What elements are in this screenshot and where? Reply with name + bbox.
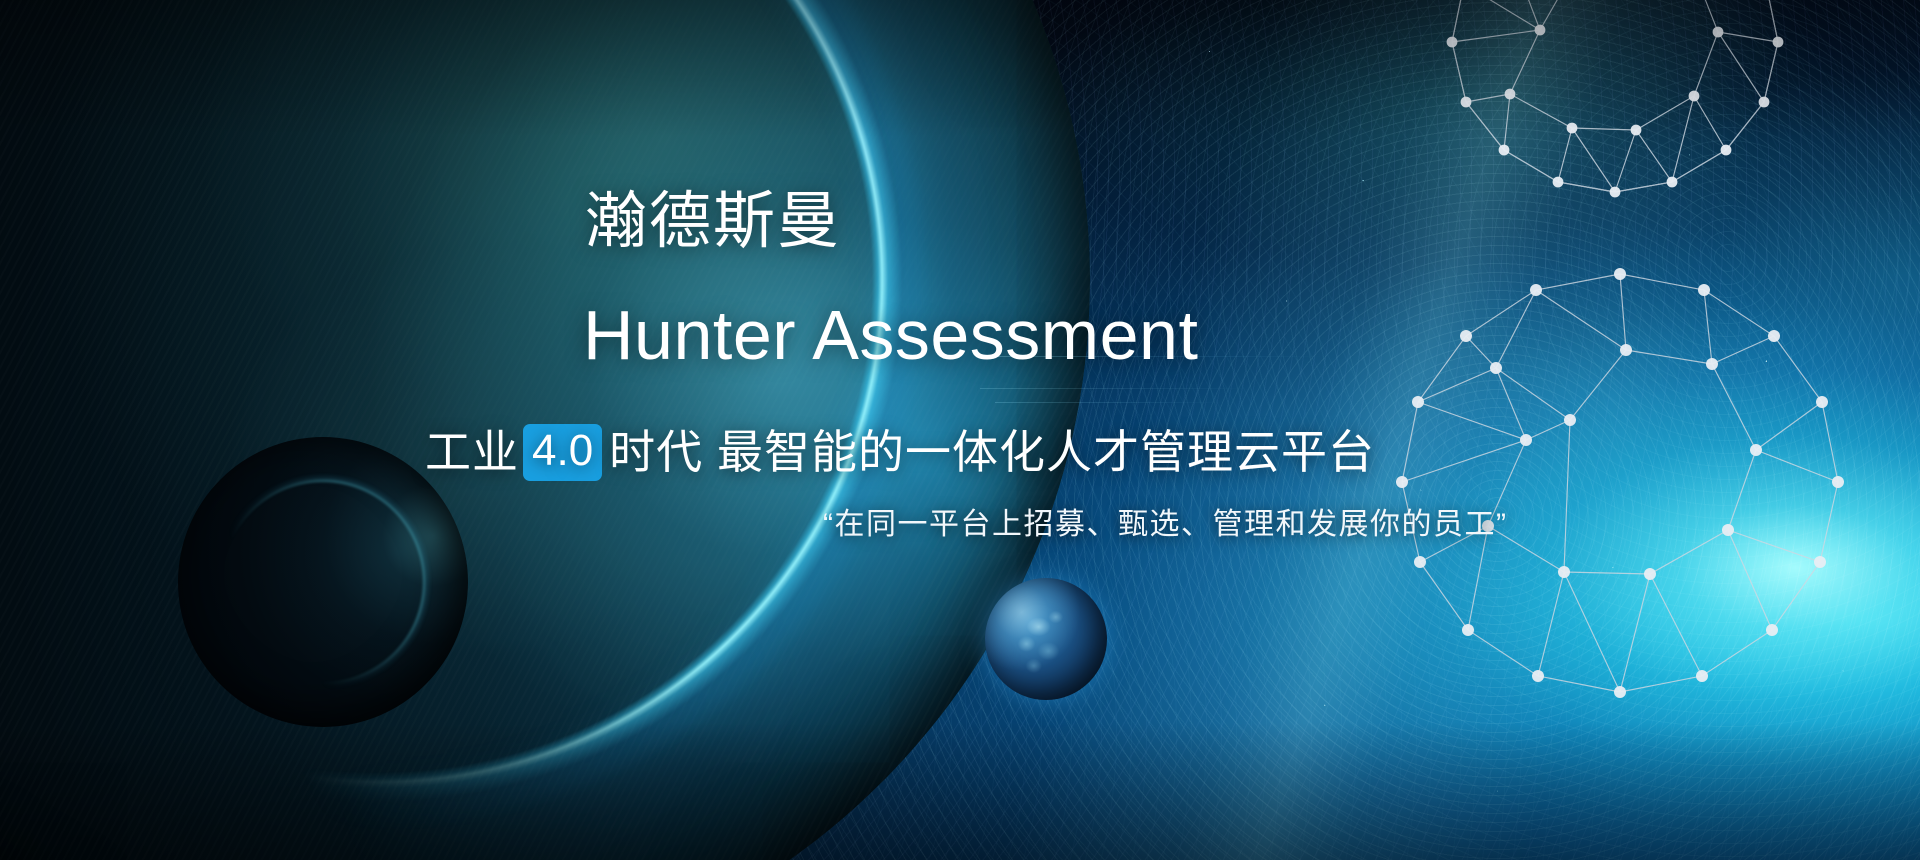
hero-banner: 瀚德斯曼 Hunter Assessment 工业 4.0 时代 最智能的一体化…	[0, 0, 1920, 860]
tagline-after-badge: 时代 最智能的一体化人才管理云平台	[609, 426, 1375, 479]
hero-copy: 瀚德斯曼 Hunter Assessment 工业 4.0 时代 最智能的一体化…	[0, 0, 1920, 860]
version-badge: 4.0	[523, 424, 602, 481]
brand-name-cn: 瀚德斯曼	[585, 190, 841, 253]
brand-name-en: Hunter Assessment	[583, 300, 1198, 370]
hero-subtitle: “在同一平台上招募、甄选、管理和发展你的员工”	[823, 505, 1507, 544]
tagline: 工业 4.0 时代 最智能的一体化人才管理云平台	[425, 424, 1375, 481]
tagline-before-badge: 工业	[425, 426, 519, 479]
